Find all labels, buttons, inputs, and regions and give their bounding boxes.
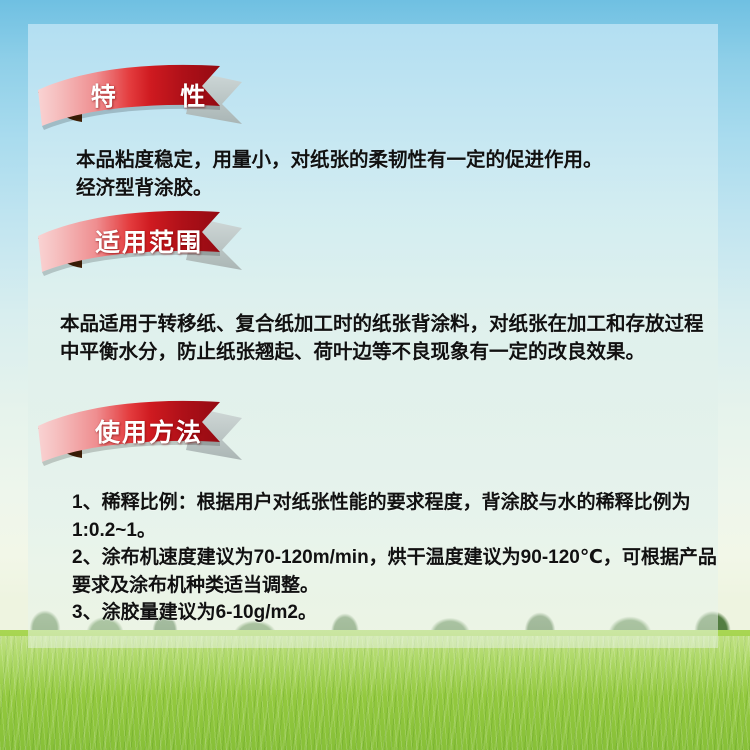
section-body-features: 本品粘度稳定，用量小，对纸张的柔韧性有一定的促进作用。 经济型背涂胶。 — [76, 146, 712, 202]
section-body-usage: 1、稀释比例：根据用户对纸张性能的要求程度，背涂胶与水的稀释比例为1:0.2~1… — [72, 489, 720, 627]
product-spec-poster: 特 性 本品粘度稳定，用量小，对纸张的柔韧性有一定的促进作用。 经济型背涂胶。 — [0, 0, 750, 750]
content-panel-inner: 特 性 本品粘度稳定，用量小，对纸张的柔韧性有一定的促进作用。 经济型背涂胶。 — [28, 24, 718, 648]
content-panel: 特 性 本品粘度稳定，用量小，对纸张的柔韧性有一定的促进作用。 经济型背涂胶。 — [28, 24, 718, 648]
ribbon-graphic — [36, 202, 256, 282]
section-banner-usage: 使用方法 — [36, 392, 256, 466]
ribbon-graphic — [36, 392, 256, 472]
section-banner-scope: 适用范围 — [36, 202, 256, 276]
section-banner-features: 特 性 — [36, 56, 256, 130]
ribbon-graphic — [36, 56, 256, 136]
section-body-scope: 本品适用于转移纸、复合纸加工时的纸张背涂料，对纸张在加工和存放过程中平衡水分，防… — [60, 310, 720, 366]
